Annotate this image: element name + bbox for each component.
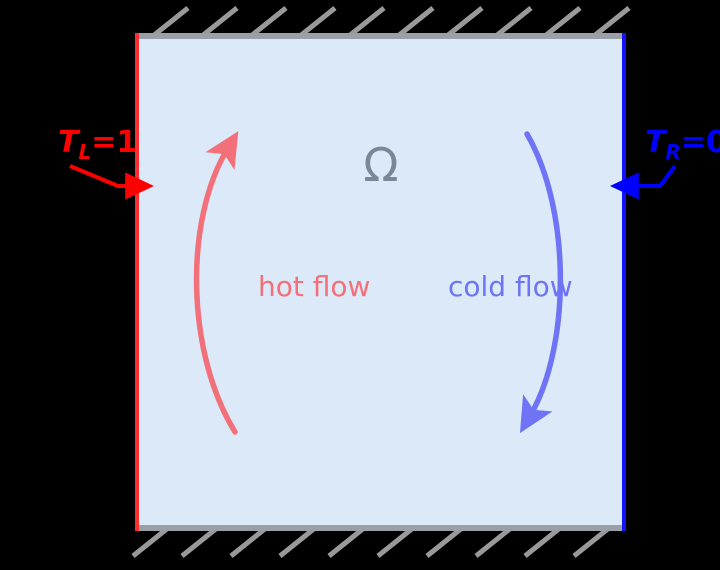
right-boundary-label: TR=0 (645, 125, 720, 164)
left-boundary-leader (70, 166, 130, 186)
right-boundary-annotation: TR=0 (634, 125, 720, 186)
left-wall-hot (135, 33, 139, 531)
domain-label: Ω (363, 138, 398, 192)
cold-flow-label: cold flow (448, 270, 573, 303)
bottom-wall-hatching (133, 528, 609, 556)
left-boundary-label: TL=1 (58, 125, 137, 164)
hot-flow-label: hot flow (258, 270, 370, 303)
right-boundary-leader (634, 166, 675, 186)
top-wall (136, 33, 626, 39)
figure-canvas: Ω hot flow cold flow TL=1 TR=0 (0, 0, 720, 570)
bottom-wall (136, 525, 626, 531)
right-boundary-value: =0 (681, 125, 720, 160)
left-boundary-subscript: L (78, 140, 91, 164)
right-wall-cold (622, 33, 626, 531)
left-boundary-annotation: TL=1 (58, 125, 137, 186)
left-boundary-value: =1 (91, 125, 137, 160)
cavity-diagram: Ω hot flow cold flow TL=1 TR=0 (0, 0, 720, 570)
top-wall-hatching (153, 8, 629, 36)
right-boundary-subscript: R (665, 140, 680, 164)
